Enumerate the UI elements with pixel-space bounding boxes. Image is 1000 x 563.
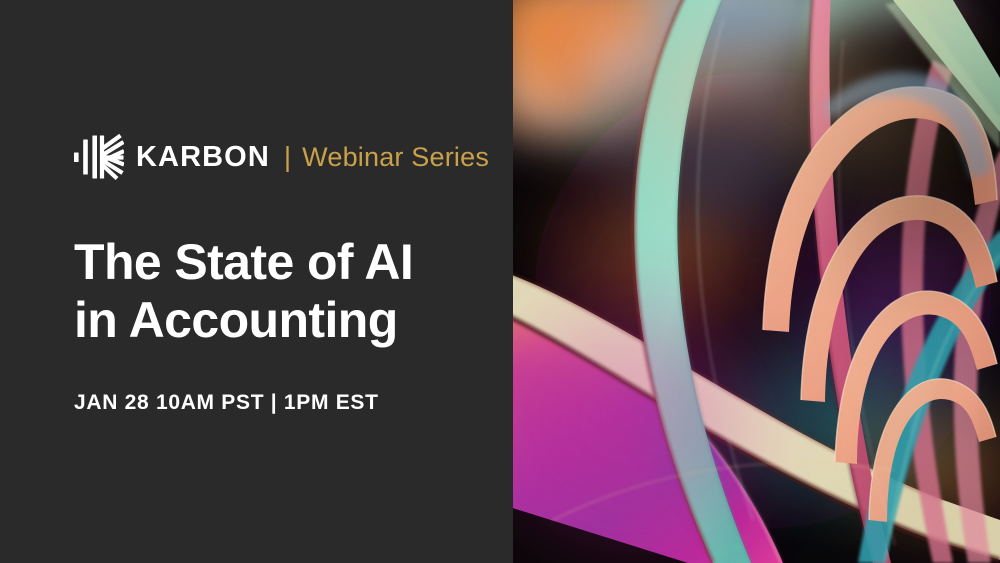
schedule-text: JAN 28 10AM PST | 1PM EST	[74, 391, 379, 415]
webinar-promo-banner: KARBON | Webinar Series The State of AI …	[0, 0, 1000, 563]
left-content-panel: KARBON | Webinar Series The State of AI …	[0, 0, 513, 563]
brand-series-label: Webinar Series	[302, 144, 489, 171]
brand-divider: |	[284, 143, 291, 171]
brand-name: KARBON	[136, 143, 270, 172]
page-title: The State of AI in Accounting	[74, 233, 413, 349]
brand-lockup: KARBON | Webinar Series	[74, 131, 489, 183]
karbon-logo-icon	[74, 134, 124, 180]
abstract-iridescent-ribbons-image	[513, 0, 1000, 563]
artwork-panel	[513, 0, 1000, 563]
